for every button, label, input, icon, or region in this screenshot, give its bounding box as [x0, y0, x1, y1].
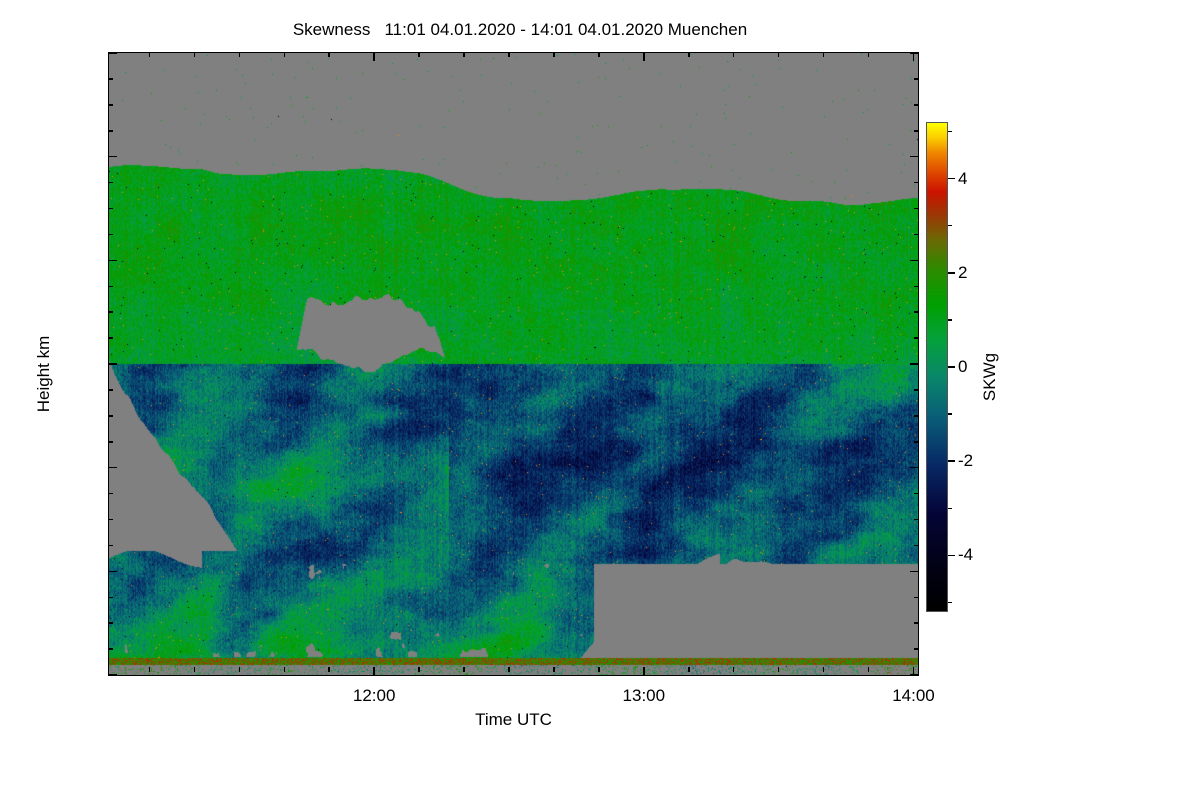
y-tick-major [108, 467, 117, 469]
radar-skewness-figure: Skewness 11:01 04.01.2020 - 14:01 04.01.… [0, 0, 1200, 800]
colorbar-tick-minor [948, 225, 952, 227]
y-tick-minor [108, 622, 113, 624]
x-tick-minor [418, 667, 420, 672]
x-tick-minor [149, 667, 151, 672]
y-tick-minor-right [914, 337, 919, 339]
x-tick-minor-top [598, 52, 600, 57]
x-tick-minor [194, 667, 196, 672]
x-tick-minor [688, 667, 690, 672]
y-tick-minor [108, 545, 113, 547]
y-tick-minor-right [914, 519, 919, 521]
x-tick-minor-top [688, 52, 690, 57]
x-tick-minor-top [868, 52, 870, 57]
x-tick-minor-top [149, 52, 151, 57]
y-tick-major-right [910, 156, 919, 158]
page-title: Skewness 11:01 04.01.2020 - 14:01 04.01.… [0, 20, 1040, 40]
colorbar-tick-major [948, 272, 955, 274]
y-tick-major [108, 571, 117, 573]
y-tick-major-right [910, 363, 919, 365]
x-tick-minor [823, 667, 825, 672]
colorbar-tick-minor [948, 602, 952, 604]
x-tick-minor [284, 667, 286, 672]
y-tick-minor [108, 597, 113, 599]
x-tick-minor-top [328, 52, 330, 57]
y-tick-major-right [910, 52, 919, 54]
y-tick-minor-right [914, 104, 919, 106]
y-tick-minor [108, 389, 113, 391]
x-tick-minor [733, 667, 735, 672]
x-tick-major [373, 667, 375, 676]
colorbar-tick-major [948, 555, 955, 557]
x-tick-label: 14:00 [892, 686, 935, 706]
x-tick-minor-top [194, 52, 196, 57]
colorbar-title: SKWg [980, 297, 1000, 457]
y-tick-minor-right [914, 130, 919, 132]
x-tick-minor-top [239, 52, 241, 57]
x-tick-minor [553, 667, 555, 672]
y-tick-minor [108, 78, 113, 80]
x-tick-minor [598, 667, 600, 672]
x-tick-label: 13:00 [623, 686, 666, 706]
y-tick-minor [108, 337, 113, 339]
y-tick-minor [108, 311, 113, 313]
y-tick-major [108, 52, 117, 54]
y-tick-minor-right [914, 208, 919, 210]
colorbar-tick-minor [948, 131, 952, 133]
x-tick-minor-top [778, 52, 780, 57]
x-tick-minor-top [823, 52, 825, 57]
y-tick-minor [108, 519, 113, 521]
y-tick-minor [108, 182, 113, 184]
x-tick-minor-top [284, 52, 286, 57]
colorbar-tick-minor [948, 413, 952, 415]
y-tick-major-right [910, 467, 919, 469]
colorbar-tick-label: 0 [958, 357, 967, 377]
x-tick-minor [239, 667, 241, 672]
colorbar-tick-major [948, 366, 955, 368]
colorbar-tick-minor [948, 508, 952, 510]
y-tick-minor [108, 441, 113, 443]
x-tick-major-top [643, 52, 645, 61]
y-tick-minor-right [914, 545, 919, 547]
y-tick-minor-right [914, 286, 919, 288]
y-tick-minor-right [914, 415, 919, 417]
y-tick-minor-right [914, 441, 919, 443]
y-tick-minor-right [914, 493, 919, 495]
x-tick-major [913, 667, 915, 676]
y-tick-minor [108, 208, 113, 210]
y-tick-minor [108, 104, 113, 106]
y-tick-minor-right [914, 597, 919, 599]
x-tick-label: 12:00 [353, 686, 396, 706]
y-tick-major [108, 156, 117, 158]
y-tick-major [108, 363, 117, 365]
x-tick-minor [463, 667, 465, 672]
y-tick-major-right [910, 571, 919, 573]
colorbar-tick-label: 4 [958, 169, 967, 189]
colorbar-frame [926, 122, 948, 612]
y-tick-major [108, 674, 117, 676]
y-tick-minor-right [914, 389, 919, 391]
y-tick-minor-right [914, 311, 919, 313]
colorbar-tick-minor [948, 319, 952, 321]
x-tick-minor-top [418, 52, 420, 57]
x-axis-title: Time UTC [108, 710, 919, 730]
x-tick-minor [328, 667, 330, 672]
y-tick-minor-right [914, 234, 919, 236]
y-tick-minor [108, 648, 113, 650]
x-tick-minor-top [733, 52, 735, 57]
colorbar-tick-major [948, 178, 955, 180]
x-tick-minor-top [463, 52, 465, 57]
y-tick-major-right [910, 674, 919, 676]
x-tick-minor [778, 667, 780, 672]
colorbar-tick-major [948, 460, 955, 462]
axes-frame [108, 52, 919, 676]
colorbar-tick-label: -2 [958, 451, 973, 471]
y-tick-minor [108, 493, 113, 495]
colorbar-tick-label: 2 [958, 263, 967, 283]
y-tick-major-right [910, 260, 919, 262]
y-tick-minor-right [914, 78, 919, 80]
x-tick-minor-top [553, 52, 555, 57]
y-tick-minor-right [914, 648, 919, 650]
x-tick-major-top [913, 52, 915, 61]
y-tick-minor-right [914, 622, 919, 624]
y-tick-major [108, 260, 117, 262]
y-tick-minor [108, 286, 113, 288]
x-tick-minor-top [508, 52, 510, 57]
y-tick-minor-right [914, 182, 919, 184]
colorbar-tick-label: -4 [958, 545, 973, 565]
y-tick-minor [108, 234, 113, 236]
x-tick-major [643, 667, 645, 676]
y-tick-minor [108, 130, 113, 132]
y-tick-minor [108, 415, 113, 417]
x-tick-minor [508, 667, 510, 672]
y-axis-title: Height km [34, 294, 54, 454]
x-tick-major-top [373, 52, 375, 61]
x-tick-minor [868, 667, 870, 672]
